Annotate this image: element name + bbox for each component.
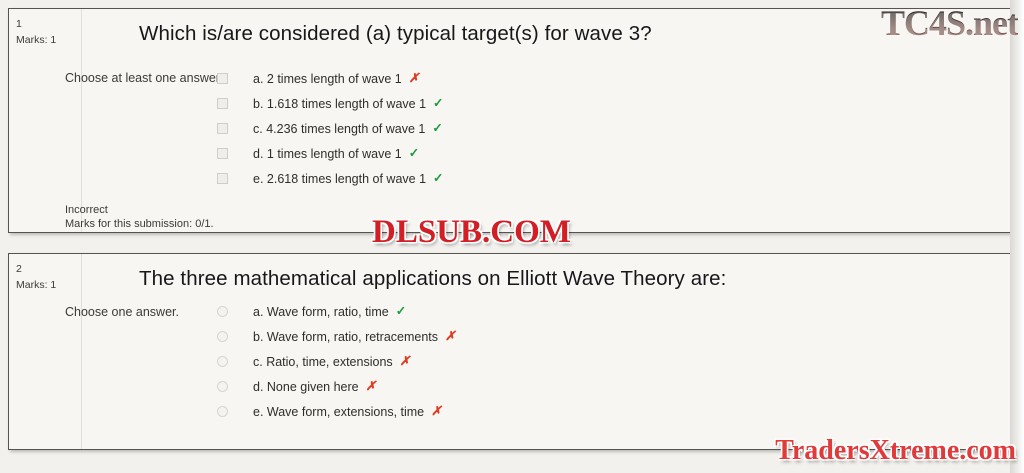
answer-label: a. Wave form, ratio, time <box>253 305 389 319</box>
radio-option-c[interactable] <box>217 356 228 367</box>
answer-row[interactable]: c. Ratio, time, extensions ✗ <box>217 349 456 374</box>
wrong-icon: ✗ <box>445 330 455 343</box>
checkbox-option-b[interactable] <box>217 98 228 109</box>
checkbox-option-c[interactable] <box>217 123 228 134</box>
checkbox-option-d[interactable] <box>217 148 228 159</box>
question-1-feedback: Incorrect Marks for this submission: 0/1… <box>65 203 214 231</box>
answer-label: c. 4.236 times length of wave 1 <box>253 122 425 136</box>
check-icon: ✓ <box>433 97 443 110</box>
answer-row[interactable]: d. 1 times length of wave 1 ✓ <box>217 141 444 166</box>
answer-label: c. Ratio, time, extensions <box>253 355 393 369</box>
quiz-review-page: 1 Marks: 1 Which is/are considered (a) t… <box>0 0 1024 473</box>
wrong-icon: ✗ <box>431 405 441 418</box>
answer-label: b. 1.618 times length of wave 1 <box>253 97 426 111</box>
answer-label: a. 2 times length of wave 1 <box>253 72 402 86</box>
question-2-title: The three mathematical applications on E… <box>139 267 726 291</box>
question-2-instruction: Choose one answer. <box>65 304 225 321</box>
checkbox-option-a[interactable] <box>217 73 228 84</box>
page-right-gutter <box>1010 0 1024 473</box>
question-2-side-info: 2 Marks: 1 <box>9 254 81 449</box>
wrong-icon: ✗ <box>409 72 419 85</box>
answer-label: d. None given here <box>253 380 359 394</box>
answer-row[interactable]: c. 4.236 times length of wave 1 ✓ <box>217 116 444 141</box>
answer-label: d. 1 times length of wave 1 <box>253 147 402 161</box>
radio-option-d[interactable] <box>217 381 228 392</box>
answer-label: e. 2.618 times length of wave 1 <box>253 172 426 186</box>
answer-row[interactable]: e. Wave form, extensions, time ✗ <box>217 399 456 424</box>
answer-row[interactable]: b. Wave form, ratio, retracements ✗ <box>217 324 456 349</box>
checkbox-option-e[interactable] <box>217 173 228 184</box>
question-1-marks: Marks: 1 <box>16 32 81 48</box>
question-2-number: 2 <box>16 261 81 277</box>
answer-label: b. Wave form, ratio, retracements <box>253 330 438 344</box>
check-icon: ✓ <box>433 172 443 185</box>
answer-label: e. Wave form, extensions, time <box>253 405 424 419</box>
check-icon: ✓ <box>432 122 442 135</box>
answer-row[interactable]: a. 2 times length of wave 1 ✗ <box>217 66 444 91</box>
question-1-number: 1 <box>16 16 81 32</box>
answer-row[interactable]: b. 1.618 times length of wave 1 ✓ <box>217 91 444 116</box>
quiz-page-area: 1 Marks: 1 Which is/are considered (a) t… <box>0 0 1016 473</box>
radio-option-e[interactable] <box>217 406 228 417</box>
wrong-icon: ✗ <box>366 380 376 393</box>
question-1-side-info: 1 Marks: 1 <box>9 9 81 232</box>
question-card-2: 2 Marks: 1 The three mathematical applic… <box>8 253 1012 450</box>
question-2-marks: Marks: 1 <box>16 277 81 293</box>
radio-option-a[interactable] <box>217 306 228 317</box>
question-1-instruction: Choose at least one answer. <box>65 70 225 87</box>
radio-option-b[interactable] <box>217 331 228 342</box>
answer-row[interactable]: a. Wave form, ratio, time ✓ <box>217 299 456 324</box>
question-2-answer-list: a. Wave form, ratio, time ✓ b. Wave form… <box>217 299 456 424</box>
question-card-1: 1 Marks: 1 Which is/are considered (a) t… <box>8 8 1012 233</box>
check-icon: ✓ <box>409 147 419 160</box>
answer-row[interactable]: d. None given here ✗ <box>217 374 456 399</box>
feedback-status: Incorrect <box>65 203 214 217</box>
check-icon: ✓ <box>396 305 406 318</box>
feedback-submission-marks: Marks for this submission: 0/1. <box>65 217 214 231</box>
answer-row[interactable]: e. 2.618 times length of wave 1 ✓ <box>217 166 444 191</box>
question-1-answer-list: a. 2 times length of wave 1 ✗ b. 1.618 t… <box>217 66 444 191</box>
wrong-icon: ✗ <box>400 355 410 368</box>
question-1-title: Which is/are considered (a) typical targ… <box>139 22 652 46</box>
